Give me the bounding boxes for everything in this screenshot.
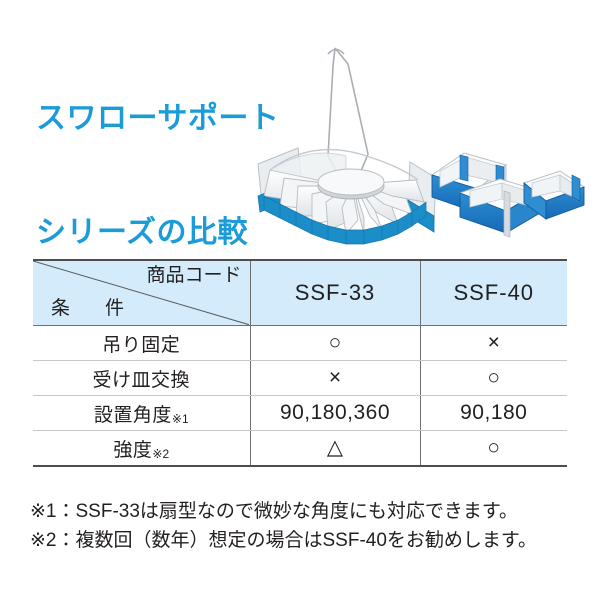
header-col-ssf40: SSF-40	[420, 260, 567, 326]
product-illustrations	[240, 36, 590, 251]
row-condition-cell: 受け皿交換	[33, 361, 250, 396]
cell-ssf40: 90,180	[420, 396, 567, 431]
row-condition-cell: 強度※2	[33, 431, 250, 467]
cell-ssf33: 90,180,360	[250, 396, 420, 431]
condition-note-marker: ※2	[152, 447, 169, 461]
table-row: 吊り固定 ○ ×	[33, 326, 567, 361]
condition-label: 吊り固定	[102, 335, 180, 356]
table-header-row: 商品コード 条 件 SSF-33 SSF-40	[33, 260, 567, 326]
row-condition-cell: 設置角度※1	[33, 396, 250, 431]
table-row: 受け皿交換 × ○	[33, 361, 567, 396]
condition-label: 受け皿交換	[92, 370, 190, 391]
footnotes: ※1：SSF-33は扇型なので微妙な角度にも対応できます。 ※2：複数回（数年）…	[30, 497, 590, 555]
comparison-table-wrapper: 商品コード 条 件 SSF-33 SSF-40 吊り固定 ○	[33, 259, 567, 467]
footnote-1: ※1：SSF-33は扇型なので微妙な角度にも対応できます。	[30, 497, 590, 526]
footnote-2: ※2：複数回（数年）想定の場合はSSF-40をお勧めします。	[30, 526, 590, 555]
row-condition-cell: 吊り固定	[33, 326, 250, 361]
cell-ssf33: △	[250, 431, 420, 467]
cell-ssf40: ○	[420, 431, 567, 467]
condition-note-marker: ※1	[172, 412, 189, 426]
condition-label: 設置角度	[94, 405, 172, 426]
cell-ssf40: ○	[420, 361, 567, 396]
header-corner-cell: 商品コード 条 件	[33, 260, 250, 326]
header-product-code-label: 商品コード	[146, 264, 241, 288]
cell-ssf33: ×	[250, 361, 420, 396]
header-condition-label: 条 件	[51, 297, 132, 321]
comparison-table: 商品コード 条 件 SSF-33 SSF-40 吊り固定 ○	[33, 259, 567, 467]
table-row: 設置角度※1 90,180,360 90,180	[33, 396, 567, 431]
table-row: 強度※2 △ ○	[33, 431, 567, 467]
condition-label: 強度	[113, 440, 152, 461]
cell-ssf33: ○	[250, 326, 420, 361]
cell-ssf40: ×	[420, 326, 567, 361]
header-col-ssf33: SSF-33	[250, 260, 420, 326]
ssf-40-tray-illustration	[420, 131, 590, 251]
